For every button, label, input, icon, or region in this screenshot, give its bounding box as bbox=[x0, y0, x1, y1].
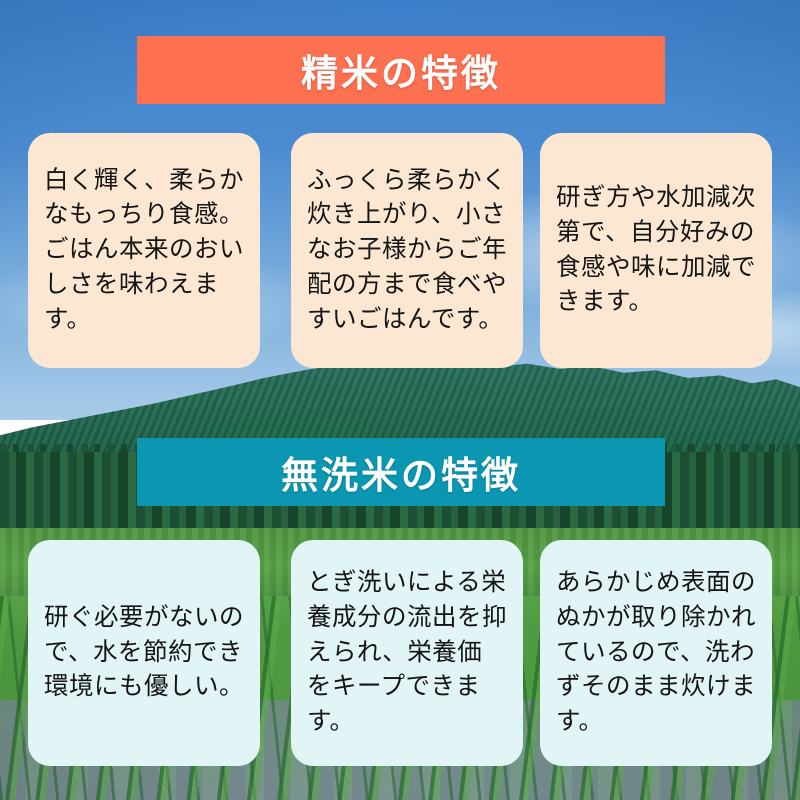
feature-card-milled-3-text: 研ぎ方や水加減次第で、自分好みの食感や味に加減できます。 bbox=[556, 181, 756, 320]
feature-card-nowash-3-text: あらかじめ表面のぬかが取り除かれているので、洗わずそのまま炊けます。 bbox=[556, 566, 756, 740]
section-heading-milled-rice: 精米の特徴 bbox=[137, 36, 665, 104]
feature-card-nowash-3: あらかじめ表面のぬかが取り除かれているので、洗わずそのまま炊けます。 bbox=[540, 540, 772, 766]
feature-card-nowash-1-text: 研ぐ必要がないので、水を節約でき環境にも優しい。 bbox=[44, 601, 244, 705]
feature-card-nowash-2: とぎ洗いによる栄養成分の流出を抑えられ、栄養価をキープできます。 bbox=[291, 540, 523, 766]
infographic-poster: 精米の特徴 白く輝く、柔らかなもっちり食感。ごはん本来のおいしさを味わえます。 … bbox=[0, 0, 800, 800]
feature-card-nowash-2-text: とぎ洗いによる栄養成分の流出を抑えられ、栄養価をキープできます。 bbox=[307, 566, 507, 740]
feature-card-milled-3: 研ぎ方や水加減次第で、自分好みの食感や味に加減できます。 bbox=[540, 133, 772, 368]
feature-card-milled-1: 白く輝く、柔らかなもっちり食感。ごはん本来のおいしさを味わえます。 bbox=[28, 133, 260, 368]
feature-card-milled-1-text: 白く輝く、柔らかなもっちり食感。ごはん本来のおいしさを味わえます。 bbox=[44, 164, 244, 338]
feature-card-nowash-1: 研ぐ必要がないので、水を節約でき環境にも優しい。 bbox=[28, 540, 260, 766]
feature-card-milled-2: ふっくら柔らかく炊き上がり、小さなお子様からご年配の方まで食べやすいごはんです。 bbox=[291, 133, 523, 368]
feature-card-milled-2-text: ふっくら柔らかく炊き上がり、小さなお子様からご年配の方まで食べやすいごはんです。 bbox=[307, 164, 507, 338]
section-heading-no-wash-rice: 無洗米の特徴 bbox=[137, 438, 665, 506]
